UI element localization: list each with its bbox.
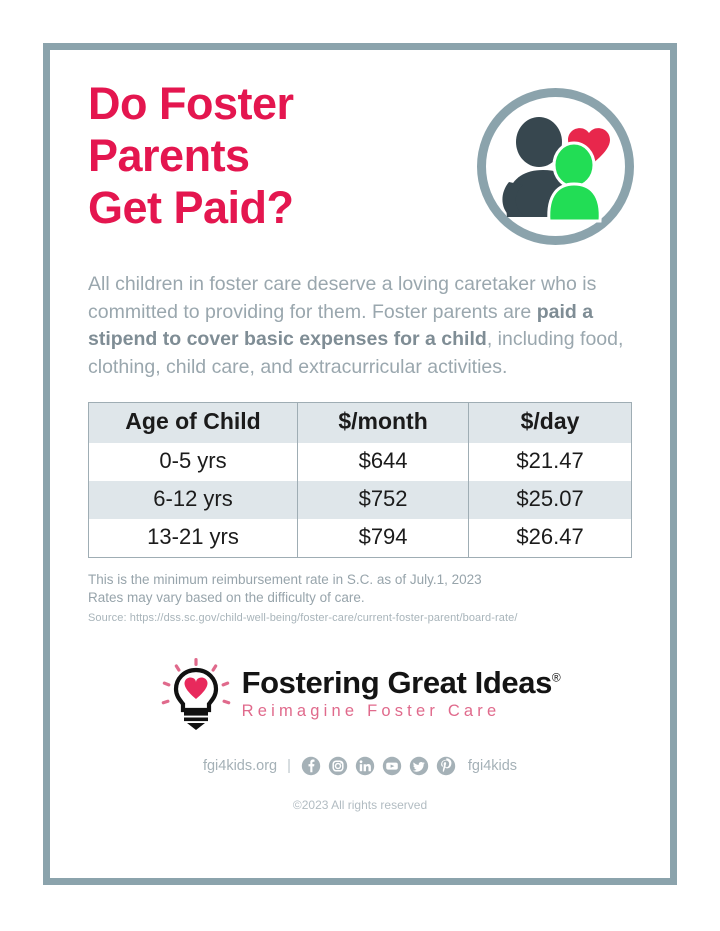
cell-day: $26.47	[469, 519, 632, 558]
youtube-icon[interactable]	[382, 756, 402, 776]
footnote: This is the minimum reimbursement rate i…	[88, 571, 632, 607]
facebook-icon[interactable]	[301, 756, 321, 776]
website-url[interactable]: fgi4kids.org	[203, 758, 277, 774]
organization-logo: Fostering Great Ideas® Reimagine Foster …	[88, 658, 632, 730]
cell-age: 0-5 yrs	[89, 443, 298, 481]
pinterest-icon[interactable]	[436, 756, 456, 776]
cell-month: $752	[298, 481, 469, 519]
column-header-age: Age of Child	[89, 402, 298, 443]
poster-content: Do Foster Parents Get Paid? All children…	[50, 50, 670, 878]
reimbursement-rate-table: Age of Child $/month $/day 0-5 yrs $644 …	[88, 402, 632, 558]
adult-embracing-child-with-heart-emblem	[473, 84, 638, 249]
cell-age: 6-12 yrs	[89, 481, 298, 519]
source-url: Source: https://dss.sc.gov/child-well-be…	[88, 612, 632, 624]
logo-tagline: Reimagine Foster Care	[242, 703, 561, 720]
registered-mark: ®	[552, 671, 560, 685]
cell-month: $644	[298, 443, 469, 481]
page-title: Do Foster Parents Get Paid?	[88, 78, 294, 235]
table-row: 0-5 yrs $644 $21.47	[89, 443, 632, 481]
table-header-row: Age of Child $/month $/day	[89, 402, 632, 443]
poster-frame: Do Foster Parents Get Paid? All children…	[43, 43, 677, 885]
logo-name: Fostering Great Ideas®	[242, 667, 561, 698]
twitter-icon[interactable]	[409, 756, 429, 776]
separator: |	[287, 758, 291, 774]
copyright-notice: ©2023 All rights reserved	[88, 798, 632, 812]
lightbulb-with-heart-icon	[160, 658, 232, 730]
intro-text-part1: All children in foster care deserve a lo…	[88, 273, 596, 323]
table-row: 6-12 yrs $752 $25.07	[89, 481, 632, 519]
column-header-day: $/day	[469, 402, 632, 443]
column-header-month: $/month	[298, 402, 469, 443]
logo-wordmark: Fostering Great Ideas® Reimagine Foster …	[242, 667, 561, 720]
social-handle: fgi4kids	[468, 758, 517, 774]
social-bar: fgi4kids.org |	[88, 756, 632, 776]
instagram-icon[interactable]	[328, 756, 348, 776]
poster-header: Do Foster Parents Get Paid?	[88, 50, 632, 249]
cell-day: $21.47	[469, 443, 632, 481]
footnote-line-1: This is the minimum reimbursement rate i…	[88, 571, 632, 589]
cell-day: $25.07	[469, 481, 632, 519]
intro-paragraph: All children in foster care deserve a lo…	[88, 271, 628, 382]
cell-age: 13-21 yrs	[89, 519, 298, 558]
logo-name-text: Fostering Great Ideas	[242, 665, 552, 700]
cell-month: $794	[298, 519, 469, 558]
footnote-line-2: Rates may vary based on the difficulty o…	[88, 589, 632, 607]
linkedin-icon[interactable]	[355, 756, 375, 776]
table-row: 13-21 yrs $794 $26.47	[89, 519, 632, 558]
